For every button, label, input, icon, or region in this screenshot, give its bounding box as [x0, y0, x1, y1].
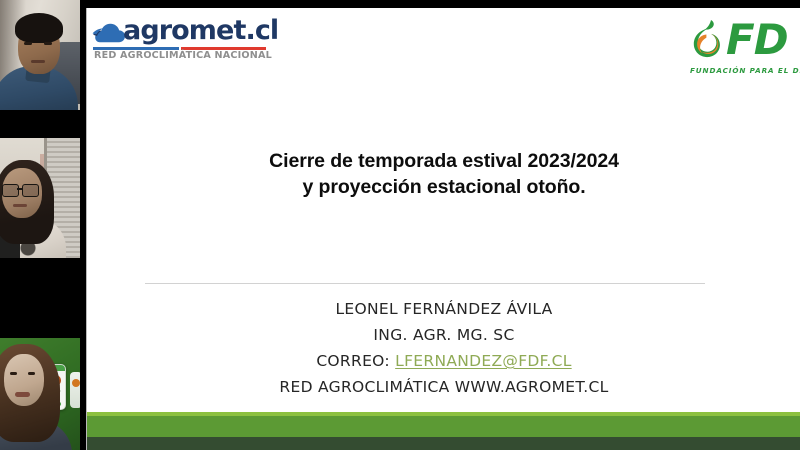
fdf-logo: FD FUNDACIÓN PARA EL DESAR [686, 14, 800, 82]
author-block: LEONEL FERNÁNDEZ ÁVILA ING. AGR. MG. SC … [127, 296, 761, 400]
person-mouth [15, 392, 30, 397]
agromet-tagline: RED AGROCLIMÁTICA NACIONAL [94, 50, 272, 61]
participant-video-2 [0, 138, 80, 258]
person-eye-right [44, 42, 52, 45]
screen-share-view: agromet.cl RED AGROCLIMÁTICA NACIONAL FD… [0, 0, 800, 450]
eyeglass-bridge [17, 188, 23, 190]
agromet-wordmark: agromet.cl [123, 15, 278, 47]
eyeglass-lens-right [22, 184, 39, 197]
fdf-tagline: FUNDACIÓN PARA EL DESAR [690, 66, 800, 75]
agromet-logo: agromet.cl RED AGROCLIMÁTICA NACIONAL [89, 14, 289, 66]
seed-leaf-icon [688, 18, 730, 66]
eyeglass-lens-left [2, 184, 19, 197]
person-eye-right [28, 372, 35, 375]
network-line: RED AGROCLIMÁTICA WWW.AGROMET.CL [127, 374, 761, 400]
person-mouth [13, 204, 27, 207]
person-eye-left [24, 42, 32, 45]
participant-tile-1[interactable] [0, 0, 80, 110]
background-poster [70, 372, 80, 408]
author-name: LEONEL FERNÁNDEZ ÁVILA [127, 296, 761, 322]
email-link[interactable]: LFERNANDEZ@FDF.CL [395, 352, 572, 370]
author-email-line: CORREO: LFERNANDEZ@FDF.CL [127, 348, 761, 374]
participant-filmstrip [0, 0, 80, 450]
title-line-2: y proyección estacional otoño. [127, 174, 761, 200]
participant-tile-2[interactable] [0, 138, 80, 258]
title-line-1: Cierre de temporada estival 2023/2024 [127, 148, 761, 174]
person-hair [15, 13, 63, 43]
shared-slide[interactable]: agromet.cl RED AGROCLIMÁTICA NACIONAL FD… [86, 8, 800, 450]
person-mouth [31, 60, 45, 63]
person-head [4, 354, 44, 406]
page-title: Cierre de temporada estival 2023/2024 y … [127, 148, 761, 200]
cloud-icon [92, 22, 126, 44]
eyeglasses [1, 184, 43, 195]
participant-video-1 [0, 0, 80, 110]
participant-tile-3[interactable] [0, 338, 80, 450]
footer-band-dark [87, 437, 800, 450]
divider [145, 283, 705, 284]
footer-band-green [87, 416, 800, 437]
author-credentials: ING. AGR. MG. SC [127, 322, 761, 348]
email-label: CORREO: [316, 352, 390, 370]
fdf-lettermark: FD [726, 16, 788, 64]
participant-video-3 [0, 338, 80, 450]
person-eye-left [10, 372, 17, 375]
